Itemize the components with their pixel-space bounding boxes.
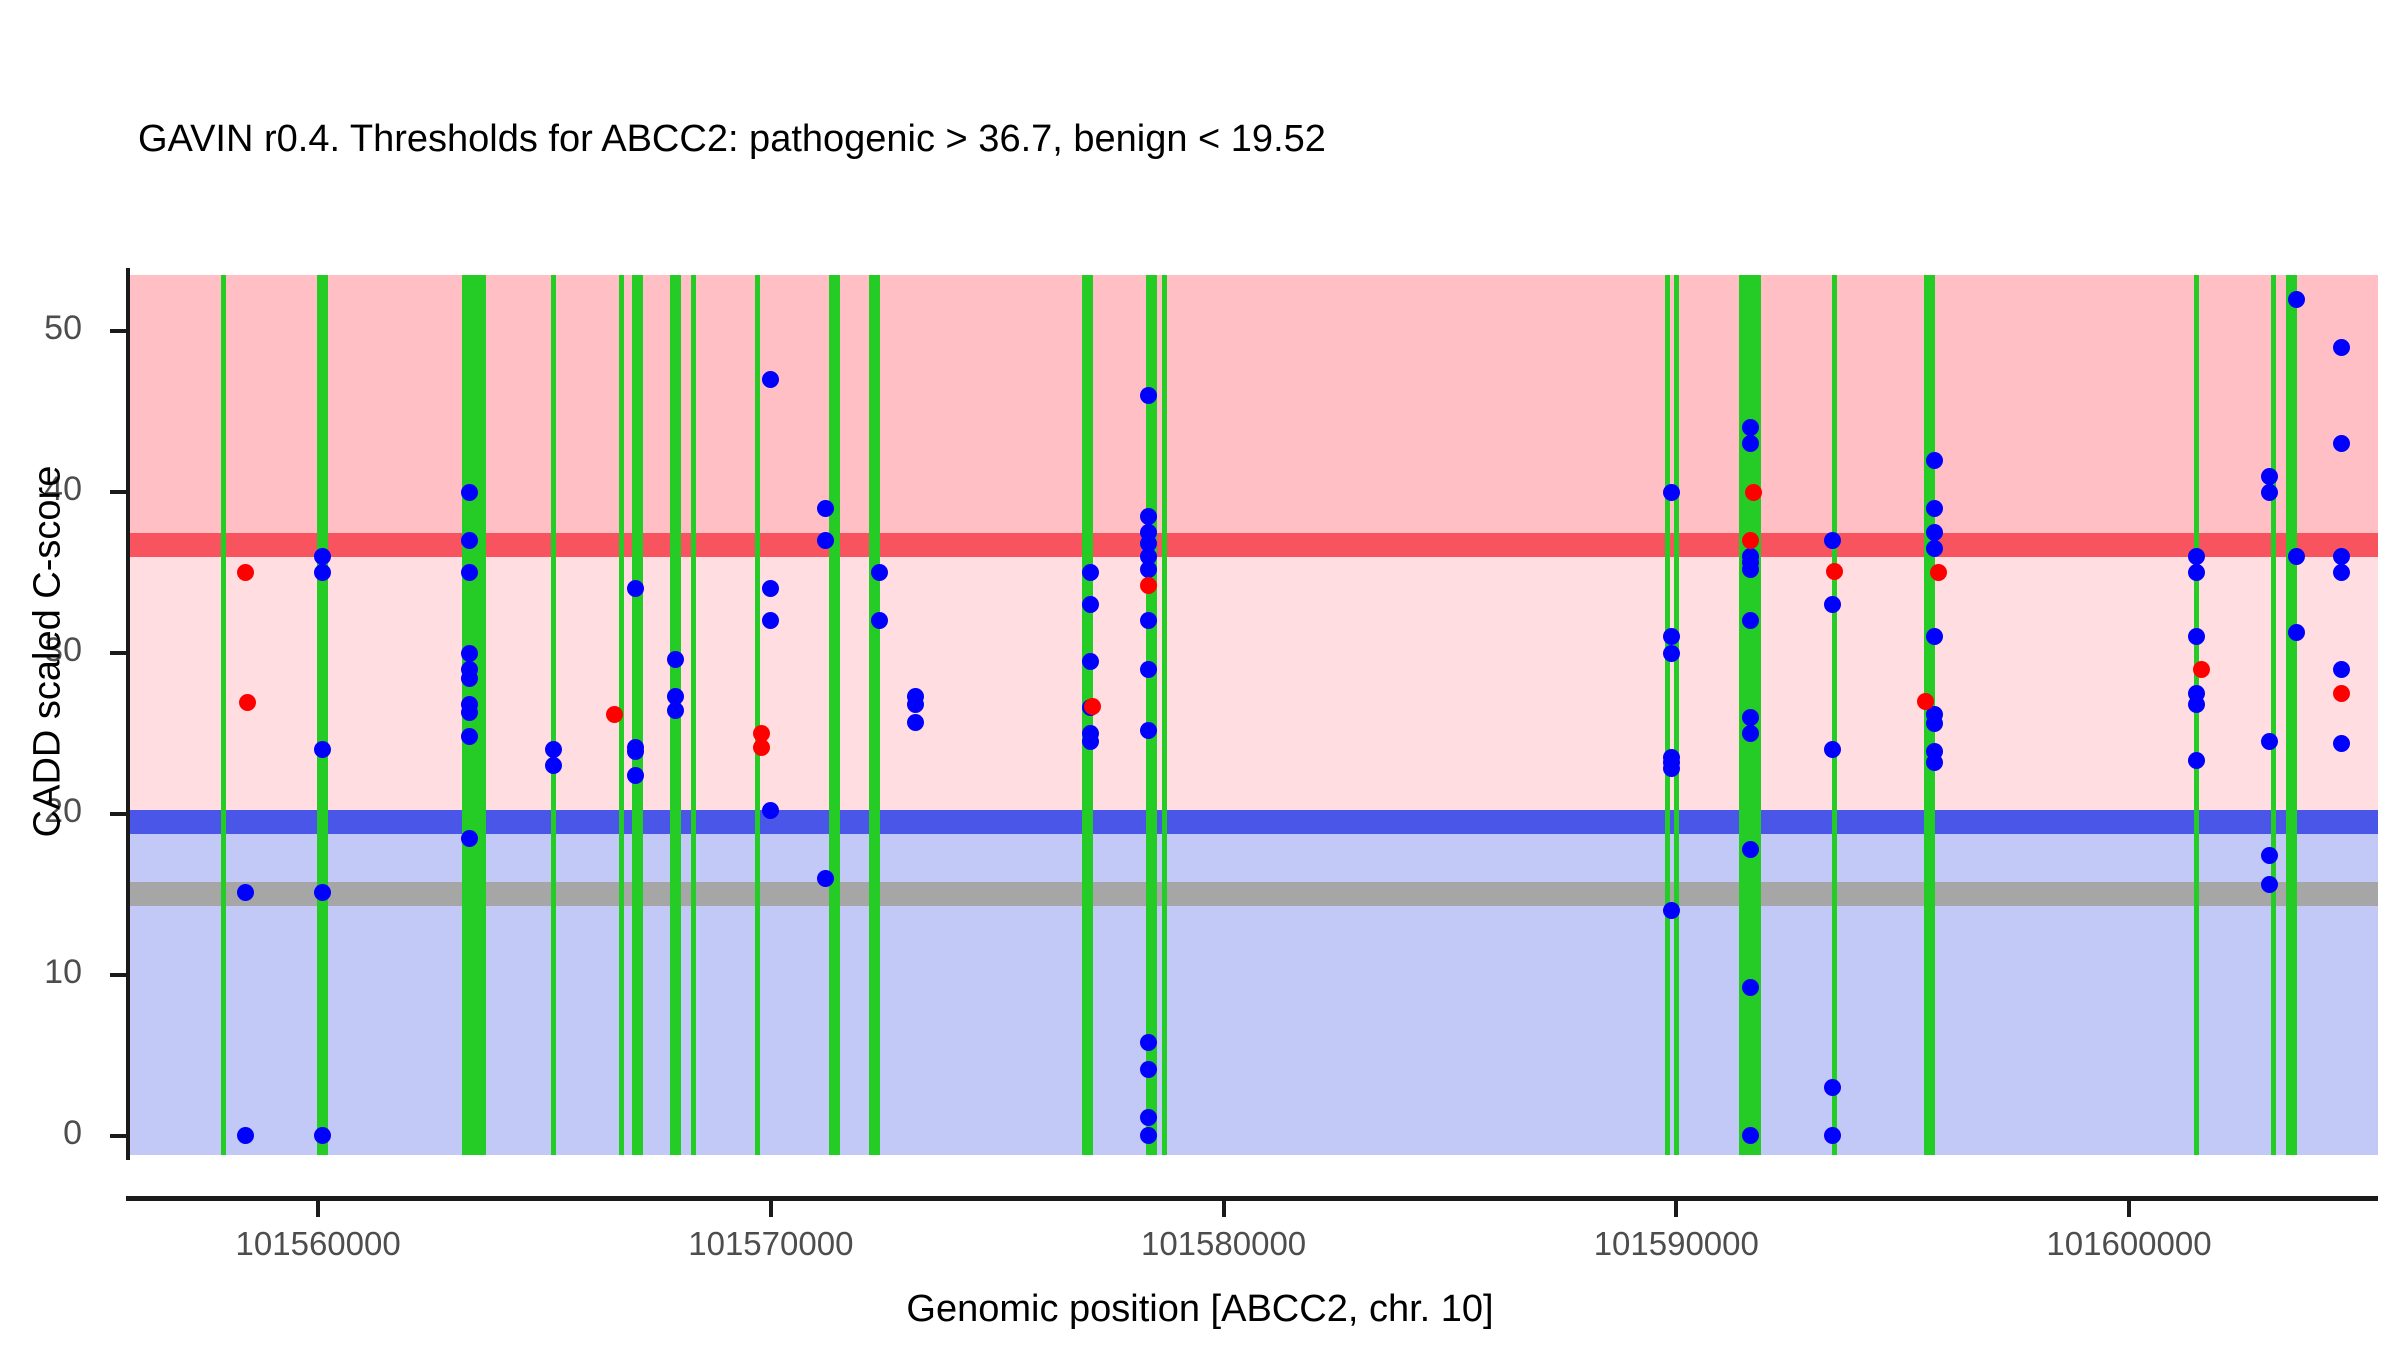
gnomad-variant-point [1663,645,1680,662]
gnomad-variant-point [1663,484,1680,501]
gnomad-variant-point [2333,735,2350,752]
plot-area [128,275,2378,1155]
gnomad-variant-point [907,714,924,731]
exon-line [2271,275,2276,1155]
y-axis-tick [110,329,126,333]
gnomad-variant-point [1926,754,1943,771]
exon-line [691,275,696,1155]
x-axis-tick-label: 101570000 [621,1225,921,1263]
gnomad-variant-point [1082,596,1099,613]
exon-line [869,275,880,1155]
gnomad-variant-point [2333,661,2350,678]
gnomad-variant-point [1926,452,1943,469]
gnomad-variant-point [2261,847,2278,864]
exon-line [481,275,486,1155]
x-axis-label: Genomic position [ABCC2, chr. 10] [0,1288,2400,1331]
gnomad-variant-point [2261,468,2278,485]
gnomad-variant-point [817,532,834,549]
x-axis-tick [2127,1201,2131,1217]
clinvar-variant-point [1084,698,1101,715]
gnomad-variant-point [2261,733,2278,750]
exon-line [2194,275,2199,1155]
exon-line [551,275,556,1155]
clinvar-variant-point [1826,563,1843,580]
gnomad-variant-point [1926,500,1943,517]
gnomad-variant-point [2288,548,2305,565]
y-axis-tick-label: 0 [0,1114,82,1153]
gnomad-variant-point [2288,291,2305,308]
x-axis-tick [769,1201,773,1217]
y-axis-tick [110,490,126,494]
gnomad-variant-point [871,564,888,581]
exon-line [1832,275,1837,1155]
x-axis-line [126,1196,2378,1201]
gnomad-variant-point [461,484,478,501]
gnomad-variant-point [1140,661,1157,678]
gnomad-variant-point [1824,1079,1841,1096]
y-axis-tick [110,973,126,977]
x-axis-tick-label: 101600000 [1979,1225,2279,1263]
gnomad-variant-point [817,870,834,887]
clinvar-variant-point [2333,685,2350,702]
x-axis-tick-label: 101560000 [168,1225,468,1263]
x-axis-tick-label: 101590000 [1526,1225,1826,1263]
gnomad-variant-point [1926,524,1943,541]
x-axis-tick [1222,1201,1226,1217]
x-axis-tick-label: 101580000 [1074,1225,1374,1263]
gnomad-variant-point [461,645,478,662]
gnomad-variant-point [1824,532,1841,549]
gnomad-variant-point [2261,876,2278,893]
gnomad-variant-point [1082,653,1099,670]
clinvar-variant-point [1745,484,1762,501]
exon-line [221,275,226,1155]
gnomad-variant-point [1926,540,1943,557]
gnomad-variant-point [1082,564,1099,581]
y-axis-tick [110,812,126,816]
exon-line [829,275,840,1155]
exon-line [755,275,760,1155]
exon-line [1665,275,1670,1155]
gnomad-variant-point [817,500,834,517]
y-axis-tick [110,651,126,655]
exon-line [2286,275,2297,1155]
gnomad-variant-point [2288,624,2305,641]
gnomad-variant-point [1824,741,1841,758]
y-axis-tick [110,1134,126,1138]
clinvar-variant-point [2193,661,2210,678]
gnomad-variant-point [627,743,644,760]
exon-line [632,275,643,1155]
y-axis-line [126,268,130,1160]
gnomad-variant-point [545,741,562,758]
clinvar-variant-point [606,706,623,723]
title-line-1: GAVIN r0.4. Thresholds for ABCC2: pathog… [138,114,2338,165]
gnomad-variant-point [2261,484,2278,501]
gnomad-variant-point [627,580,644,597]
plot-panel [128,275,2378,1155]
x-axis-tick [1674,1201,1678,1217]
exon-line [1146,275,1157,1155]
gnomad-variant-point [627,767,644,784]
clinvar-variant-point [1917,693,1934,710]
gnomad-variant-point [461,830,478,847]
gnomad-variant-point [1082,733,1099,750]
x-axis-tick [316,1201,320,1217]
exon-line [1162,275,1167,1155]
y-axis-label: CADD scaled C-score [27,342,70,962]
exon-line [317,275,328,1155]
exon-line [1674,275,1679,1155]
